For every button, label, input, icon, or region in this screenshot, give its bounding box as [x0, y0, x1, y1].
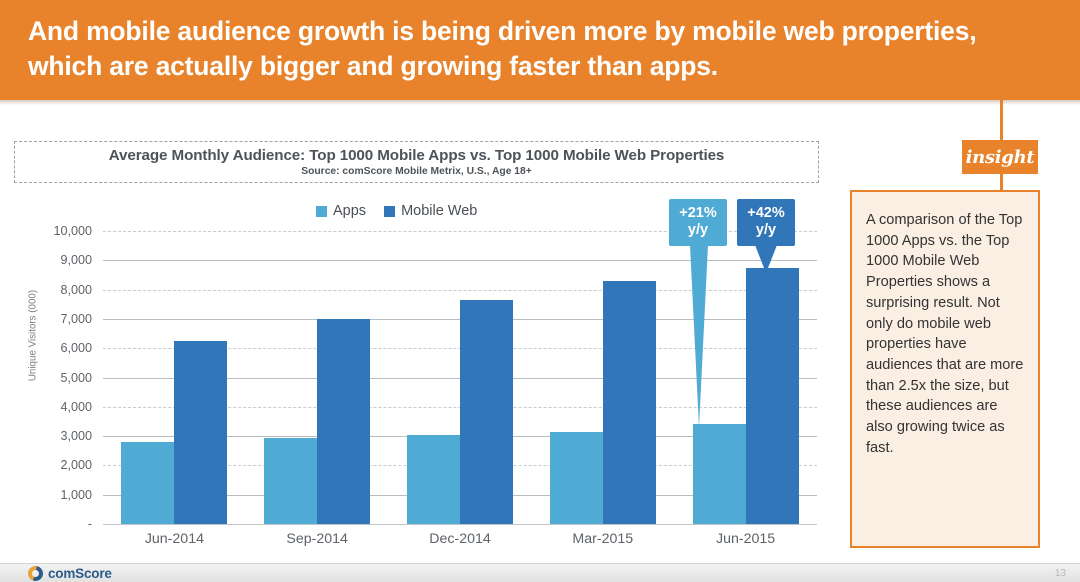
bar-apps: [264, 438, 317, 524]
y-axis-tick-label: -: [30, 517, 92, 531]
bar-apps: [121, 442, 174, 524]
chart-plot-area: Unique Visitors (000) 10,0009,0008,0007,…: [0, 0, 850, 560]
bar-group: [121, 231, 227, 524]
y-axis-tick-label: 4,000: [30, 400, 92, 414]
x-axis-baseline: [103, 524, 817, 525]
x-axis-tick-label: Jun-2015: [671, 531, 821, 547]
insight-connector-top: [1000, 100, 1003, 140]
callout-apps-growth-unit: y/y: [671, 222, 725, 239]
callout-web-growth: +42% y/y: [737, 199, 795, 246]
y-axis-tick-label: 10,000: [30, 224, 92, 238]
page-number: 13: [1055, 568, 1066, 579]
bar-mobile-web: [174, 341, 227, 524]
y-axis-tick-label: 9,000: [30, 253, 92, 267]
callout-apps-growth-value: +21%: [671, 205, 725, 222]
y-axis-tick-label: 8,000: [30, 283, 92, 297]
bar-group: [693, 231, 799, 524]
insight-body-text: A comparison of the Top 1000 Apps vs. th…: [866, 210, 1024, 459]
callout-web-growth-value: +42%: [739, 205, 793, 222]
bar-group: [407, 231, 513, 524]
footer-bar: [0, 563, 1080, 582]
bar-mobile-web: [746, 268, 799, 524]
x-axis-tick-label: Dec-2014: [385, 531, 535, 547]
comscore-logo: comScore: [28, 566, 112, 581]
x-axis-tick-label: Jun-2014: [99, 531, 249, 547]
callout-pointer-mobile-web: [755, 245, 777, 273]
bar-mobile-web: [603, 281, 656, 524]
insight-tab-label: insight: [966, 147, 1035, 168]
bar-mobile-web: [460, 300, 513, 524]
bar-group: [550, 231, 656, 524]
y-axis-tick-label: 1,000: [30, 488, 92, 502]
y-axis-tick-label: 3,000: [30, 429, 92, 443]
y-axis-tick-label: 2,000: [30, 458, 92, 472]
insight-panel: A comparison of the Top 1000 Apps vs. th…: [850, 190, 1040, 548]
chart-bars: [103, 231, 817, 524]
callout-pointer-apps: [690, 245, 708, 427]
x-axis-tick-label: Mar-2015: [528, 531, 678, 547]
y-axis-tick-label: 7,000: [30, 312, 92, 326]
bar-mobile-web: [317, 319, 370, 524]
bar-apps: [407, 435, 460, 524]
bar-group: [264, 231, 370, 524]
callout-apps-growth: +21% y/y: [669, 199, 727, 246]
x-axis-tick-labels: Jun-2014Sep-2014Dec-2014Mar-2015Jun-2015: [103, 531, 817, 555]
insight-tab: insight: [962, 140, 1038, 174]
comscore-logo-text: comScore: [48, 566, 112, 581]
callout-web-growth-unit: y/y: [739, 222, 793, 239]
insight-connector-bottom: [1000, 174, 1003, 190]
y-axis-tick-label: 5,000: [30, 371, 92, 385]
x-axis-tick-label: Sep-2014: [242, 531, 392, 547]
bar-apps: [693, 424, 746, 524]
bar-apps: [550, 432, 603, 524]
y-axis-tick-label: 6,000: [30, 341, 92, 355]
comscore-logo-icon: [28, 566, 43, 581]
